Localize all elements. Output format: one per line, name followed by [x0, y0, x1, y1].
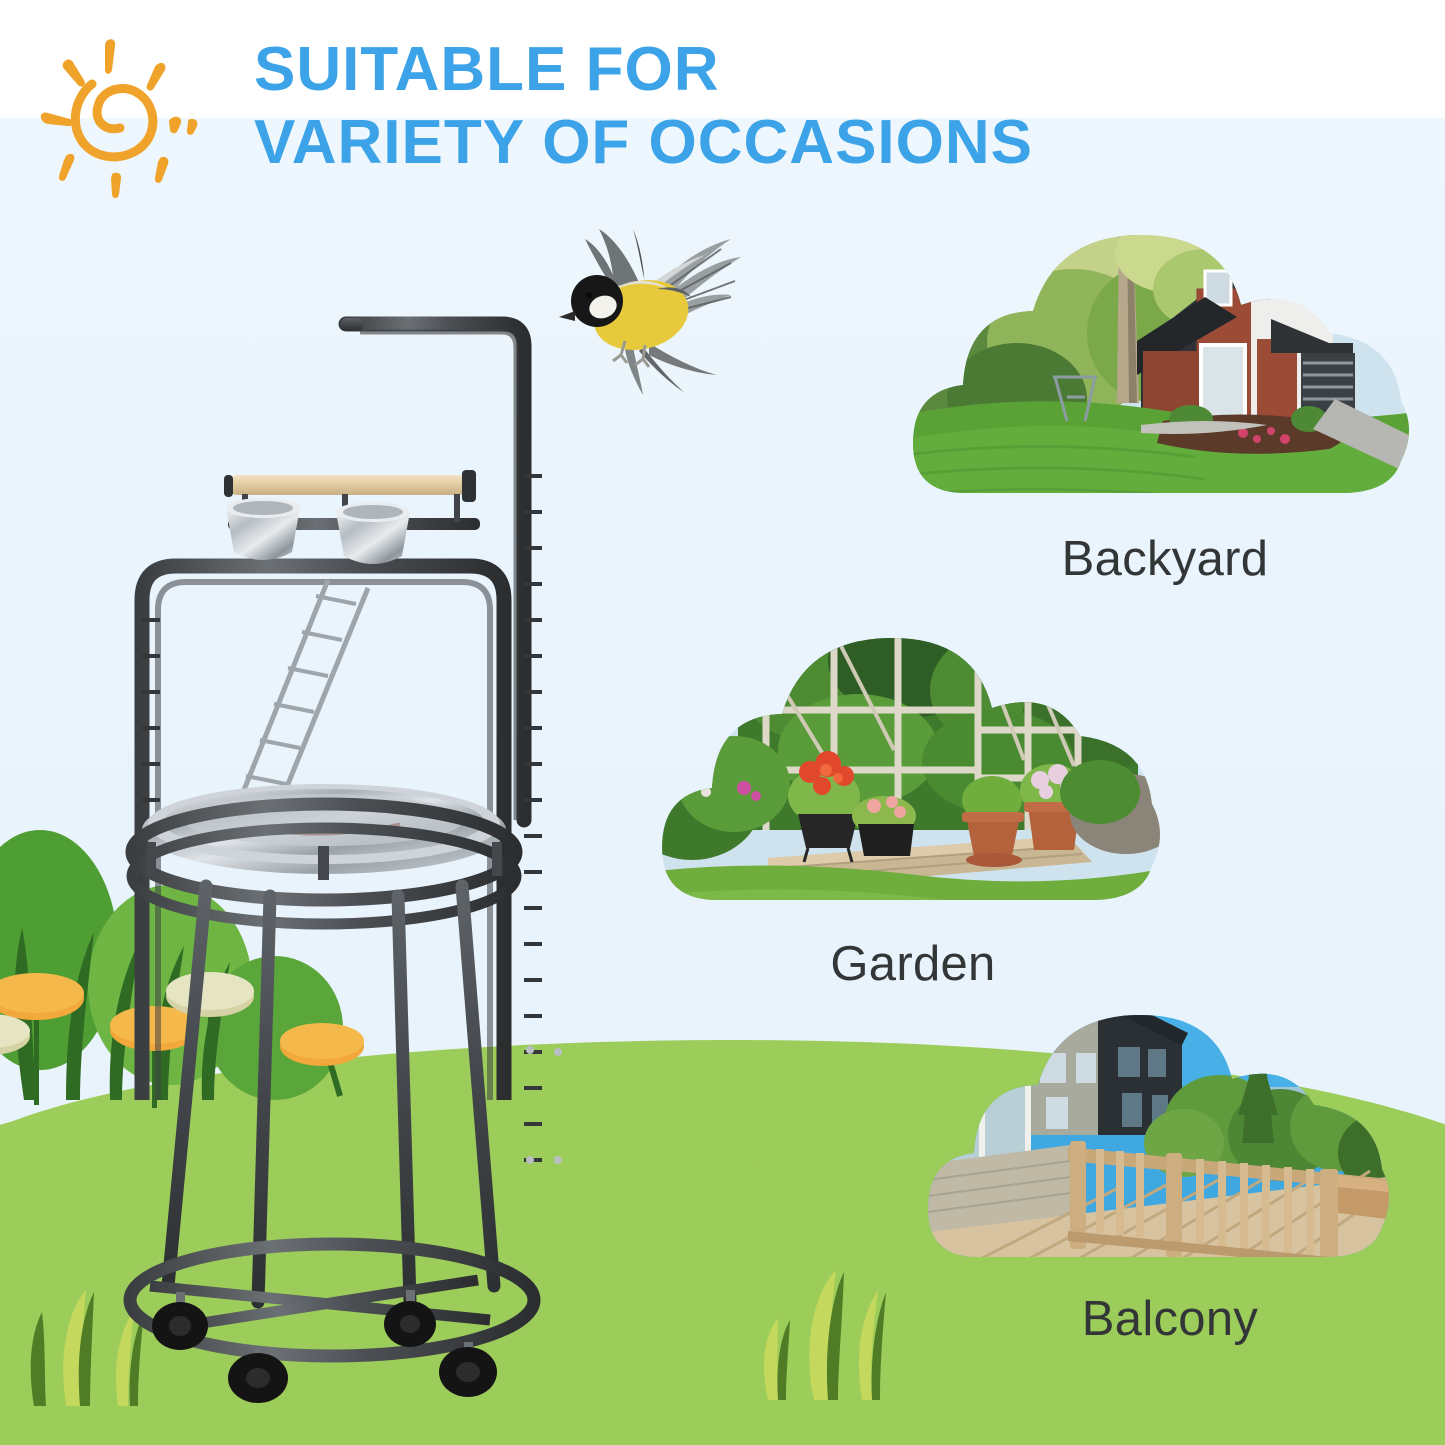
great-tit-bird — [545, 215, 750, 400]
cloud-frame-balcony — [920, 975, 1420, 1285]
occasion-card-garden[interactable]: Garden — [648, 600, 1178, 930]
page-title: SUITABLE FOR VARIETY OF OCCASIONS — [254, 34, 1204, 179]
bird-head — [559, 275, 623, 327]
card-label-balcony: Balcony — [920, 1291, 1420, 1347]
title-line-1: SUITABLE FOR — [254, 34, 1204, 107]
bird-tail — [625, 343, 717, 395]
card-label-backyard: Backyard — [905, 531, 1425, 587]
infographic-canvas: SUITABLE FOR VARIETY OF OCCASIONS — [0, 0, 1445, 1445]
title-line-2: VARIETY OF OCCASIONS — [254, 107, 1204, 180]
garden-scene — [622, 600, 1182, 930]
sun-spiral-icon — [36, 34, 206, 194]
backyard-scene — [893, 193, 1425, 523]
wooden-perch-bar — [224, 470, 476, 502]
feeding-bowl-left — [226, 498, 300, 560]
occasion-card-backyard[interactable]: Backyard — [905, 193, 1425, 523]
product-image-bird-perch-stand — [110, 280, 580, 1390]
occasion-card-balcony[interactable]: Balcony — [920, 975, 1420, 1285]
feeding-bowl-right — [336, 502, 410, 564]
cloud-frame-garden — [648, 600, 1178, 930]
balcony-scene — [920, 975, 1426, 1285]
cloud-frame-backyard — [905, 193, 1425, 523]
